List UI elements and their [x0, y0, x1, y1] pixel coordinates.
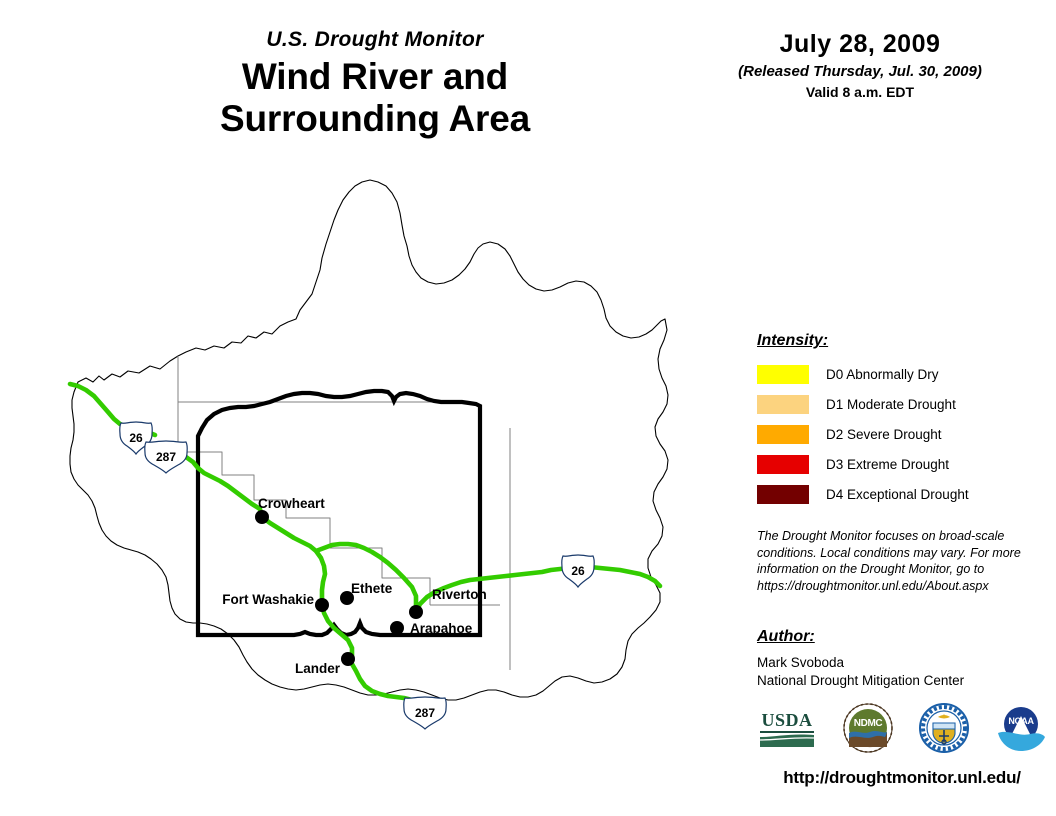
county-outlines [70, 180, 668, 700]
author-title: Author: [757, 628, 1047, 646]
svg-text:26: 26 [571, 564, 585, 578]
valid-time: Valid 8 a.m. EDT [700, 84, 1020, 100]
svg-text:26: 26 [129, 431, 143, 445]
svg-text:NDMC: NDMC [854, 718, 883, 729]
legend-swatch-d0 [757, 365, 809, 384]
noaa-logo: NOAA [995, 704, 1047, 757]
map-date: July 28, 2009 [700, 30, 1020, 59]
city-label-ethete: Ethete [351, 581, 393, 596]
page-title: Wind River and Surrounding Area [80, 56, 670, 139]
date-block: July 28, 2009 (Released Thursday, Jul. 3… [700, 30, 1020, 100]
city-label-fort-washakie: Fort Washakie [222, 592, 314, 607]
svg-text:287: 287 [415, 706, 435, 720]
ndmc-logo: NDMC [843, 703, 893, 758]
legend-swatch-d3 [757, 455, 809, 474]
highway-us26-east [316, 544, 660, 612]
legend-swatch-d4 [757, 485, 809, 504]
legend-row-d3: D3 Extreme Drought [757, 449, 1047, 479]
legend-row-d4: D4 Exceptional Drought [757, 479, 1047, 509]
legend-swatch-d2 [757, 425, 809, 444]
legend-label-d1: D1 Moderate Drought [826, 397, 956, 412]
city-dot-fort-washakie [315, 598, 329, 612]
shield-us287-a: 287 [145, 441, 188, 473]
legend-row-d2: D2 Severe Drought [757, 419, 1047, 449]
city-label-riverton: Riverton [432, 587, 487, 602]
legend-label-d2: D2 Severe Drought [826, 427, 942, 442]
author-panel: Author: Mark Svoboda National Drought Mi… [757, 628, 1047, 690]
city-dot-riverton [409, 605, 423, 619]
usda-logo: USDA [757, 707, 817, 754]
svg-text:USDA: USDA [761, 710, 812, 730]
drought-map: 26 287 26 287 Crowheart Fort Washakie Et… [0, 170, 740, 790]
legend-swatch-d1 [757, 395, 809, 414]
svg-text:287: 287 [156, 450, 176, 464]
title-block: U.S. Drought Monitor Wind River and Surr… [80, 28, 670, 139]
legend-title: Intensity: [757, 332, 1047, 350]
legend-row-d1: D1 Moderate Drought [757, 389, 1047, 419]
author-organization: National Drought Mitigation Center [757, 672, 1047, 690]
page-title-line2: Surrounding Area [80, 98, 670, 139]
partner-logos: USDA NDMC [757, 703, 1047, 757]
city-dot-arapahoe [390, 621, 404, 635]
doc-seal-logo [919, 703, 969, 758]
legend-label-d4: D4 Exceptional Drought [826, 487, 969, 502]
intensity-legend: Intensity: D0 Abnormally Dry D1 Moderate… [757, 332, 1047, 509]
city-label-lander: Lander [295, 661, 341, 676]
highways [70, 384, 660, 709]
shield-us26-b: 26 [562, 555, 595, 587]
city-label-arapahoe: Arapahoe [410, 621, 473, 636]
site-url[interactable]: http://droughtmonitor.unl.edu/ [757, 768, 1047, 788]
shield-us287-b: 287 [404, 697, 447, 729]
author-name: Mark Svoboda [757, 654, 1047, 672]
city-label-crowheart: Crowheart [258, 496, 325, 511]
legend-row-d0: D0 Abnormally Dry [757, 359, 1047, 389]
page-title-line1: Wind River and [80, 56, 670, 97]
legend-label-d3: D3 Extreme Drought [826, 457, 949, 472]
legend-label-d0: D0 Abnormally Dry [826, 367, 939, 382]
city-dot-lander [341, 652, 355, 666]
city-dot-crowheart [255, 510, 269, 524]
disclaimer-text: The Drought Monitor focuses on broad-sca… [757, 528, 1027, 594]
program-name: U.S. Drought Monitor [80, 28, 670, 51]
svg-text:NOAA: NOAA [1008, 716, 1034, 726]
release-date: (Released Thursday, Jul. 30, 2009) [700, 63, 1020, 80]
